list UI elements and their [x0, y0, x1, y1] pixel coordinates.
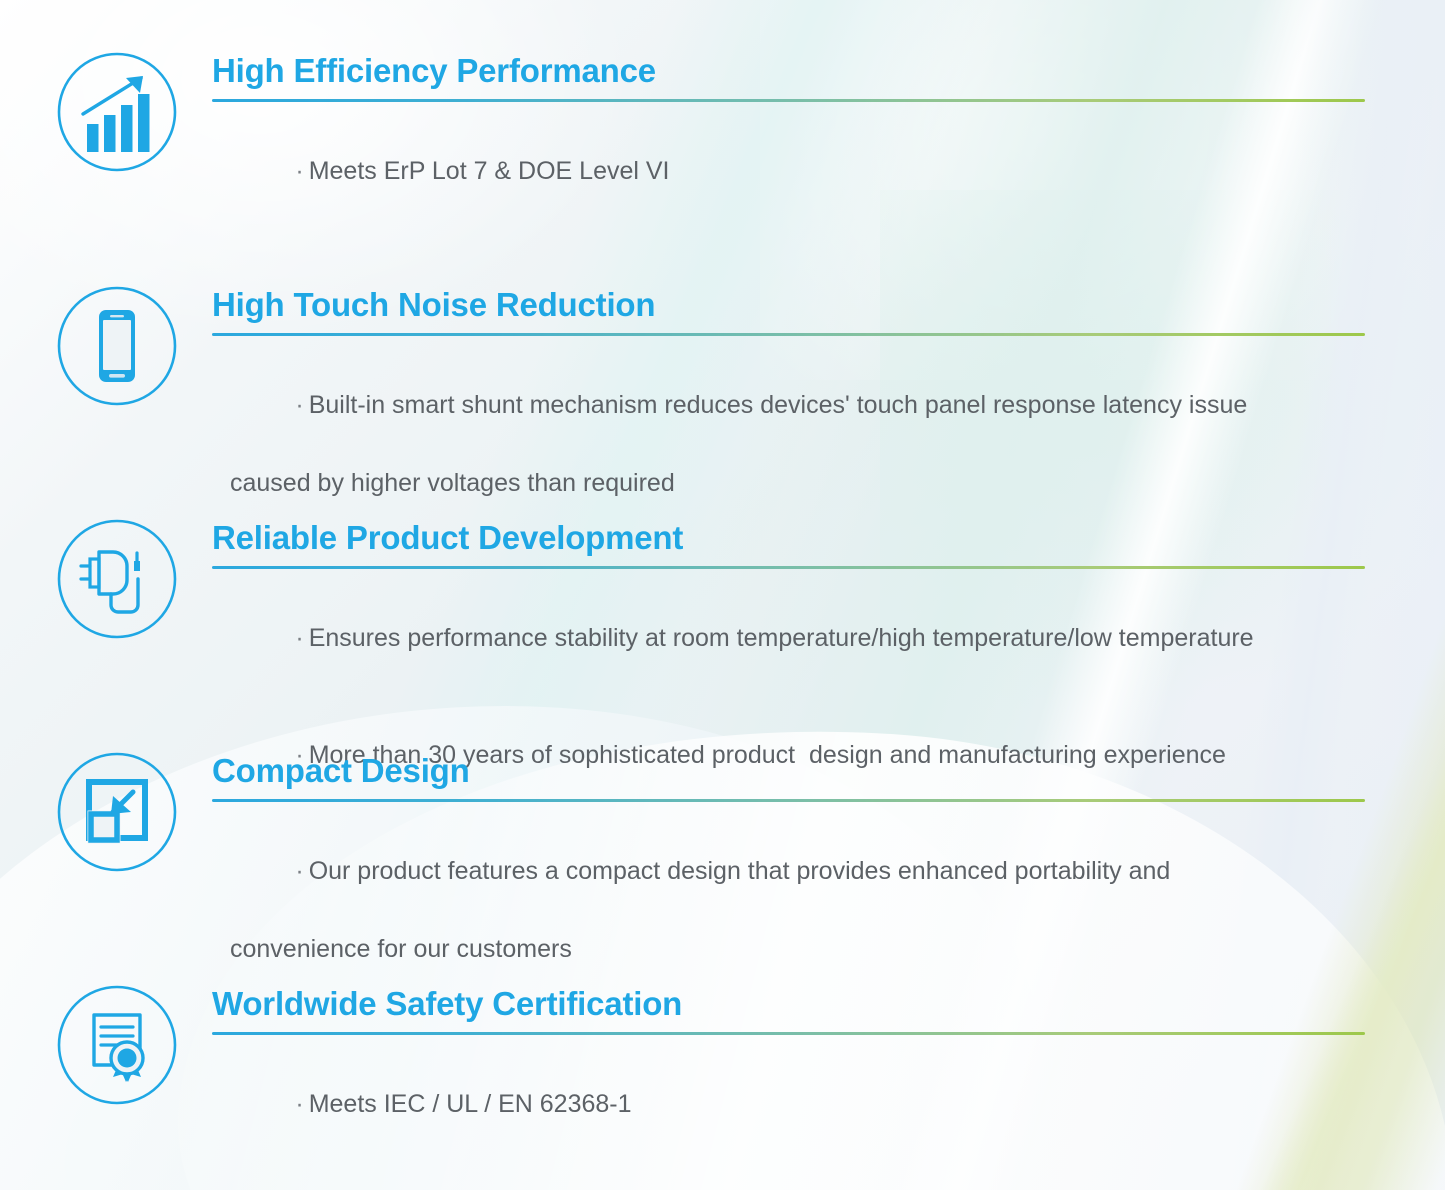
feature-title: High Efficiency Performance [212, 52, 1367, 90]
feature-title: Reliable Product Development [212, 519, 1367, 557]
bullet-marker: · [295, 391, 303, 419]
feature-bullet-line: ·Ensures performance stability at room t… [212, 580, 1367, 697]
feature-title: High Touch Noise Reduction [212, 286, 1367, 324]
feature-divider [212, 799, 1365, 802]
feature-description: ·Meets IEC / UL / EN 62368-1 [212, 1046, 1367, 1163]
feature-bullet-line: ·Meets ErP Lot 7 & DOE Level VI [212, 113, 1367, 230]
feature-content: High Efficiency Performance ·Meets ErP L… [212, 52, 1367, 230]
feature-title: Compact Design [212, 752, 1367, 790]
feature-highlights-page: High Efficiency Performance ·Meets ErP L… [0, 0, 1445, 1190]
bullet-text-continuation: caused by higher voltages than required [212, 464, 1367, 503]
bullet-text: Ensures performance stability at room te… [309, 624, 1254, 652]
feature-description: ·Meets ErP Lot 7 & DOE Level VI [212, 113, 1367, 230]
bullet-text-continuation: convenience for our customers [212, 930, 1367, 969]
feature-content: Worldwide Safety Certification ·Meets IE… [212, 985, 1367, 1163]
compact-resize-icon [57, 752, 177, 872]
smartphone-icon [57, 286, 177, 406]
bullet-text: Meets ErP Lot 7 & DOE Level VI [309, 157, 670, 185]
feature-divider [212, 566, 1365, 569]
feature-divider [212, 1032, 1365, 1035]
bullet-text: Our product features a compact design th… [309, 857, 1171, 885]
bullet-marker: · [295, 1090, 303, 1118]
feature-divider [212, 333, 1365, 336]
feature-title: Worldwide Safety Certification [212, 985, 1367, 1023]
feature-divider [212, 99, 1365, 102]
bullet-text: Built-in smart shunt mechanism reduces d… [309, 391, 1248, 419]
bullet-marker: · [295, 857, 303, 885]
bar-chart-growth-icon [57, 52, 177, 172]
feature-bullet-line: ·Meets IEC / UL / EN 62368-1 [212, 1046, 1367, 1163]
bullet-marker: · [295, 157, 303, 185]
certificate-award-icon [57, 985, 177, 1105]
bullet-text: Meets IEC / UL / EN 62368-1 [309, 1090, 632, 1118]
bullet-marker: · [295, 624, 303, 652]
power-adapter-icon [57, 519, 177, 639]
